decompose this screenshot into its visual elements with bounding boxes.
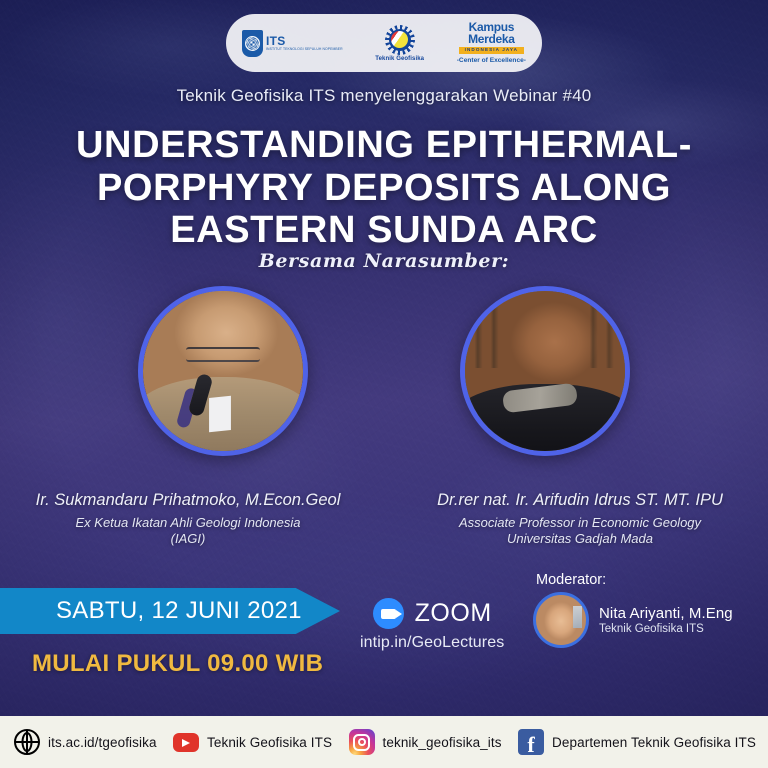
footer-item-instagram[interactable]: teknik_geofisika_its <box>349 729 502 755</box>
speaker-1-portrait <box>143 291 303 451</box>
speaker-photo-arifudin <box>460 286 630 456</box>
youtube-handle: Teknik Geofisika ITS <box>207 735 332 750</box>
registration-link[interactable]: intip.in/GeoLectures <box>360 634 504 652</box>
logo-bar: ITS INSTITUT TEKNOLOGI SEPULUH NOPEMBER … <box>226 14 542 72</box>
kampus-merdeka-ribbon: INDONESIA JAYA <box>459 47 524 55</box>
teknik-geofisika-logo: Teknik Geofisika <box>375 25 424 62</box>
speaker-2-portrait <box>465 291 625 451</box>
webinar-poster: ITS INSTITUT TEKNOLOGI SEPULUH NOPEMBER … <box>0 0 768 768</box>
instagram-handle: teknik_geofisika_its <box>383 735 502 750</box>
speaker-2 <box>460 286 630 456</box>
eyebrow-text: Teknik Geofisika ITS menyelenggarakan We… <box>0 86 768 106</box>
footer-item-website[interactable]: its.ac.id/tgeofisika <box>14 729 157 755</box>
website-handle: its.ac.id/tgeofisika <box>48 735 157 750</box>
gear-globe-icon <box>385 25 415 55</box>
facebook-icon <box>518 729 544 755</box>
speaker-captions: Ir. Sukmandaru Prihatmoko, M.Econ.Geol E… <box>0 477 768 548</box>
moderator-avatar <box>533 592 589 648</box>
its-logo: ITS INSTITUT TEKNOLOGI SEPULUH NOPEMBER <box>242 30 343 57</box>
its-logo-title: ITS <box>266 35 343 47</box>
speaker-photos <box>0 286 768 456</box>
speaker-photo-sukmandaru <box>138 286 308 456</box>
speaker-2-background-trees <box>465 291 625 368</box>
moderator-label: Moderator: <box>536 572 733 588</box>
speaker-1-caption: Ir. Sukmandaru Prihatmoko, M.Econ.Geol E… <box>5 477 371 548</box>
page-title: UNDERSTANDING EPITHERMAL-PORPHYRY DEPOSI… <box>36 124 732 252</box>
zoom-camera-icon <box>373 598 404 629</box>
center-of-excellence-tagline: -Center of Excellence- <box>457 57 526 64</box>
footer-item-facebook[interactable]: Departemen Teknik Geofisika ITS <box>518 729 756 755</box>
social-footer: its.ac.id/tgeofisika Teknik Geofisika IT… <box>0 716 768 768</box>
moderator-name: Nita Ariyanti, M.Eng <box>599 605 733 622</box>
speaker-1-name: Ir. Sukmandaru Prihatmoko, M.Econ.Geol <box>36 491 341 510</box>
moderator-block: Moderator: Nita Ariyanti, M.Eng Teknik G… <box>533 572 733 648</box>
speaker-1 <box>138 286 308 456</box>
facebook-handle: Departemen Teknik Geofisika ITS <box>552 735 756 750</box>
teknik-geofisika-label: Teknik Geofisika <box>375 56 424 62</box>
instagram-icon <box>349 729 375 755</box>
its-logo-subtitle: INSTITUT TEKNOLOGI SEPULUH NOPEMBER <box>266 47 343 52</box>
speaker-2-role: Associate Professor in Economic Geology … <box>459 515 701 548</box>
globe-icon <box>14 729 40 755</box>
speaker-2-caption: Dr.rer nat. Ir. Arifudin Idrus ST. MT. I… <box>397 477 763 548</box>
event-time: MULAI PUKUL 09.00 WIB <box>32 650 323 678</box>
zoom-platform-label: ZOOM <box>415 599 492 628</box>
youtube-icon <box>173 733 199 752</box>
kampus-merdeka-word-2: Merdeka <box>468 34 515 45</box>
speaker-1-role: Ex Ketua Ikatan Ahli Geologi Indonesia (… <box>76 515 301 548</box>
zoom-info: ZOOM intip.in/GeoLectures <box>360 598 504 652</box>
speakers-intro-label: Bersama Narasumber: <box>0 250 768 272</box>
date-banner: SABTU, 12 JUNI 2021 <box>0 588 340 634</box>
moderator-affiliation: Teknik Geofisika ITS <box>599 623 733 635</box>
event-date: SABTU, 12 JUNI 2021 <box>56 597 302 625</box>
its-emblem-icon <box>242 30 263 57</box>
kampus-merdeka-logo: Kampus Merdeka INDONESIA JAYA -Center of… <box>457 22 526 65</box>
footer-item-youtube[interactable]: Teknik Geofisika ITS <box>173 732 332 752</box>
speaker-2-name: Dr.rer nat. Ir. Arifudin Idrus ST. MT. I… <box>437 491 723 510</box>
speaker-1-shirt <box>209 395 231 431</box>
kampus-merdeka-word-1: Kampus <box>469 22 515 33</box>
glasses-icon <box>186 347 260 362</box>
